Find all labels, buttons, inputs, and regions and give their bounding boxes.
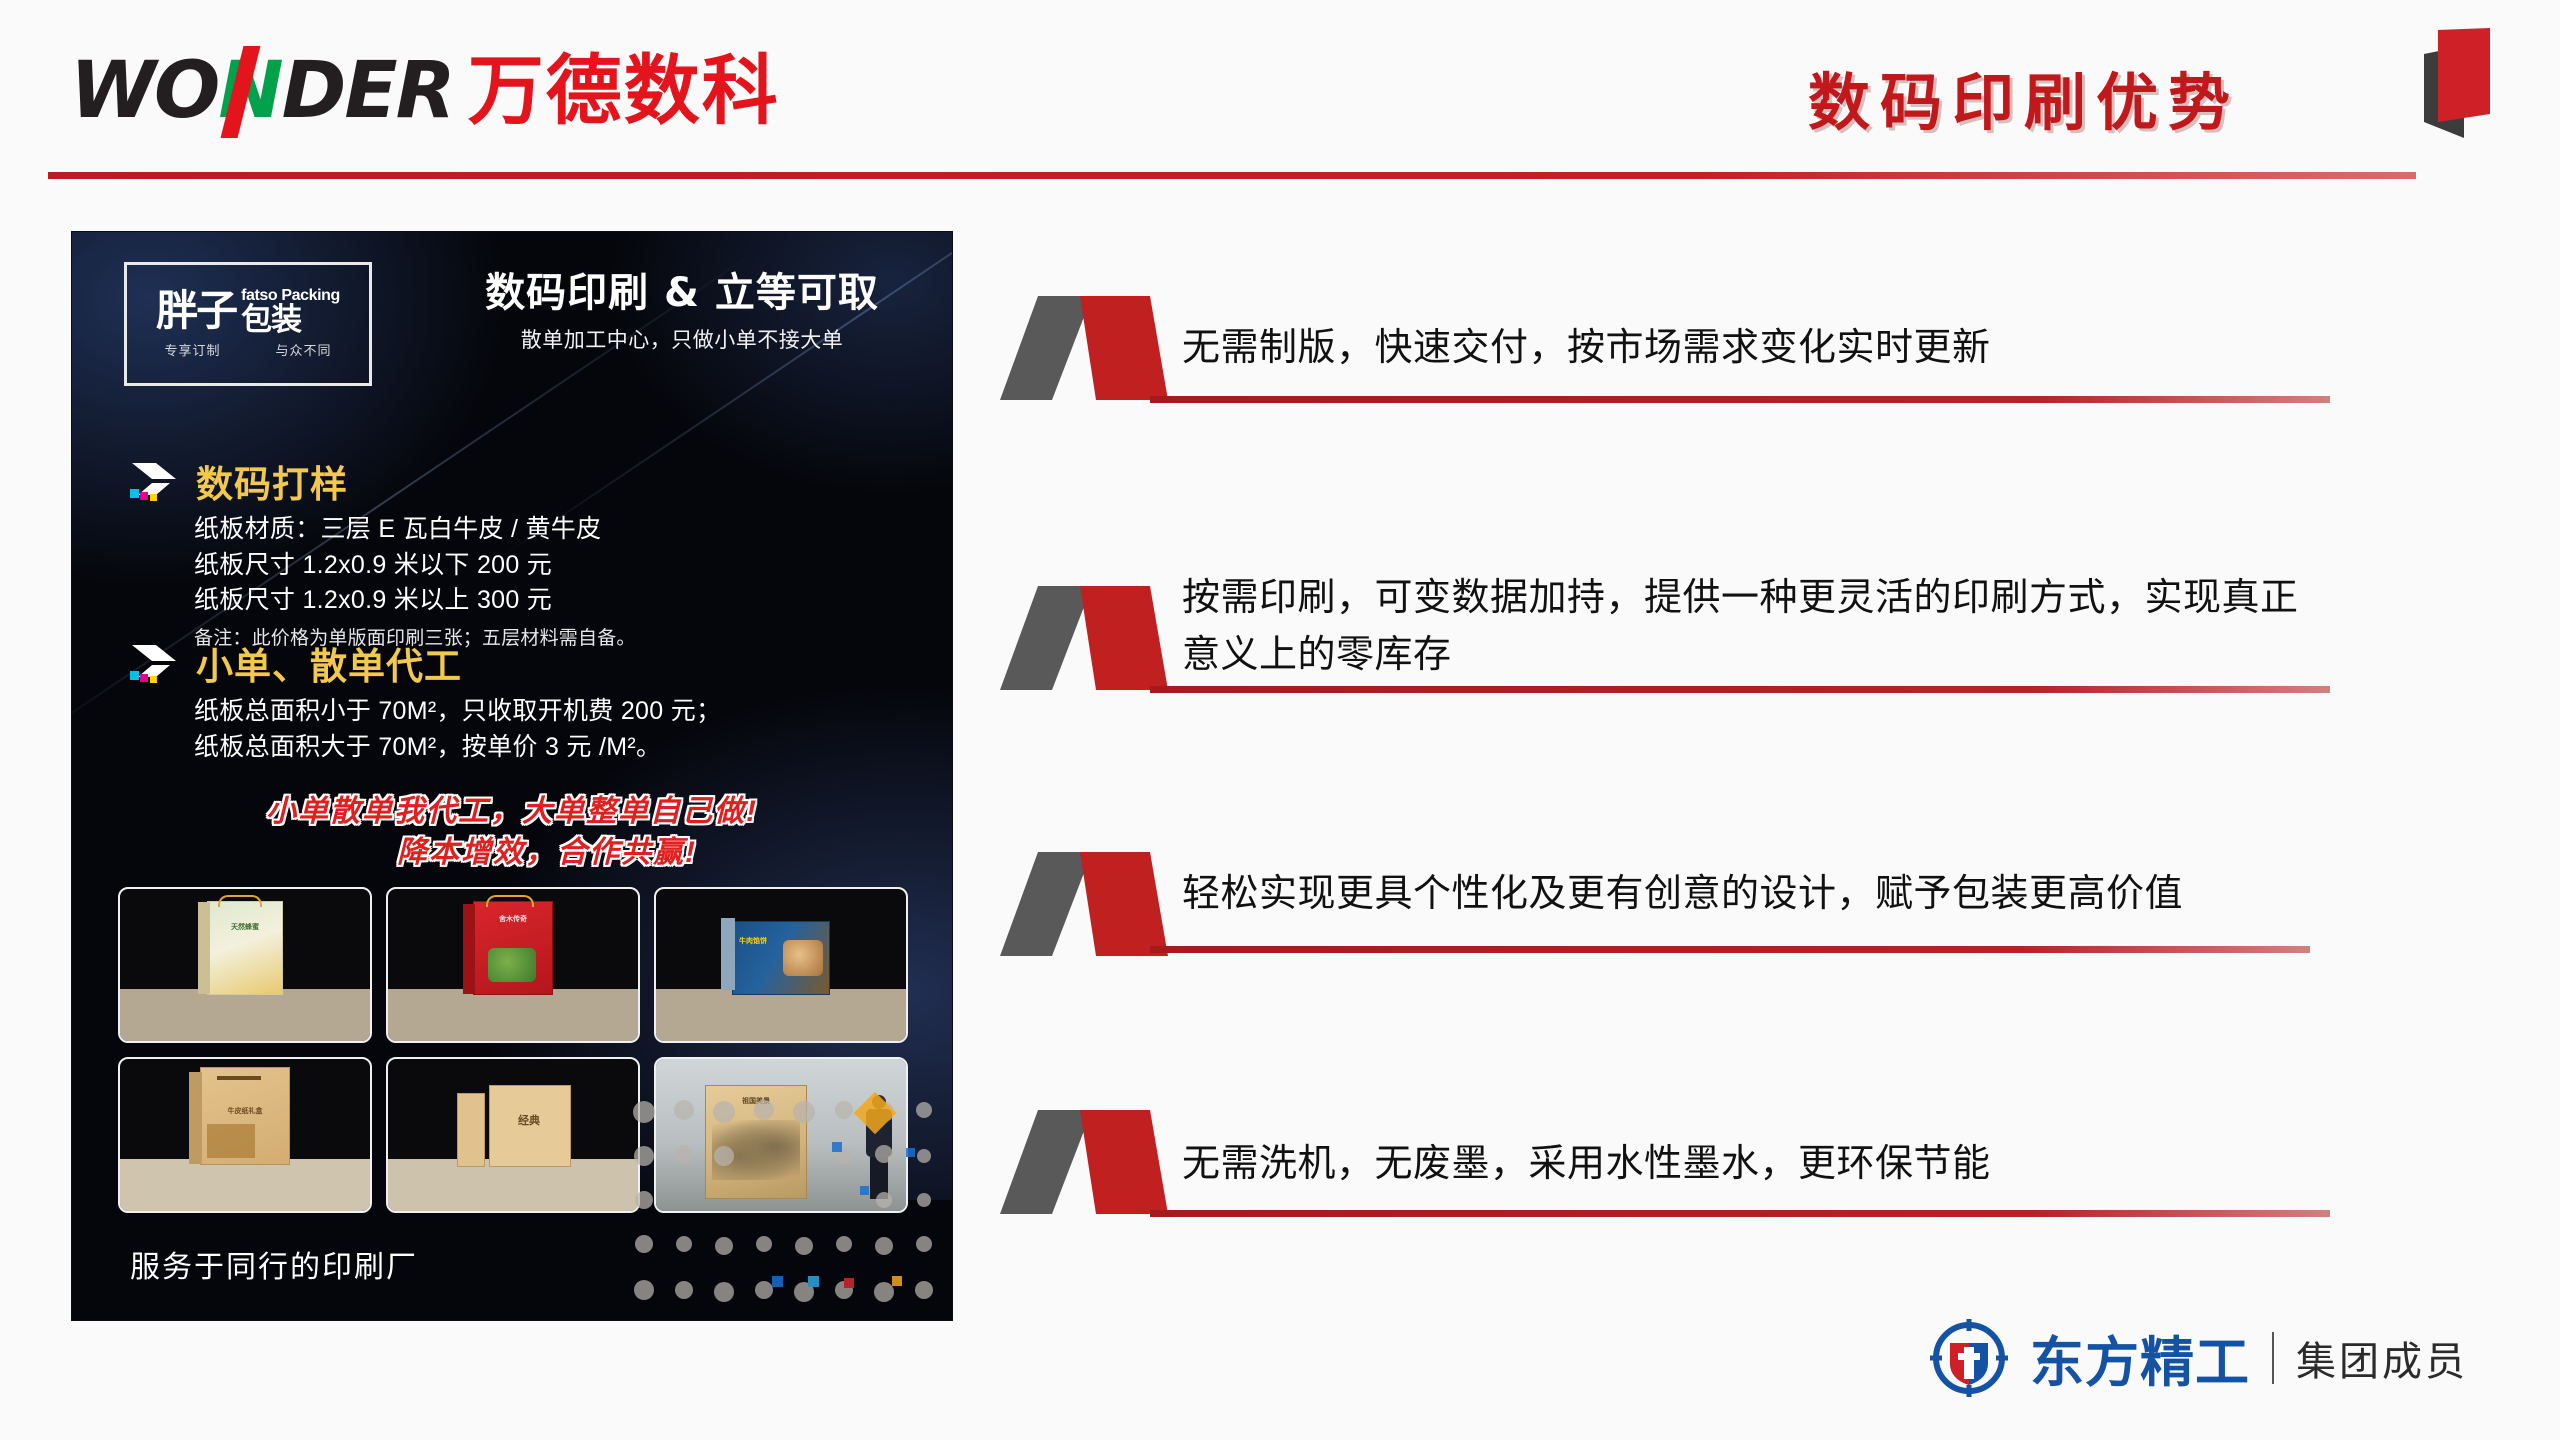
section-2-title: 小单、散单代工 [196, 636, 462, 690]
section-1-line-3: 纸板尺寸 1.2x0.9 米以上 300 元 [194, 583, 920, 619]
group-member-label: 集团成员 [2296, 1329, 2468, 1387]
beef-pie-box: 牛肉馅饼 [732, 921, 830, 995]
poster-headline-block: 数码印刷 & 立等可取 散单加工中心，只做小单不接大单 [432, 270, 932, 354]
advantage-bullet-1-underline [1150, 396, 2330, 403]
product-photo-beef-pie: 牛肉馅饼 [654, 887, 908, 1043]
poster-section-small-orders: 小单、散单代工 纸板总面积小于 70M²，只收取开机费 200 元； 纸板总面积… [130, 636, 920, 765]
chevron-arrow-icon [130, 643, 182, 683]
section-2-lines: 纸板总面积小于 70M²，只收取开机费 200 元； 纸板总面积大于 70M²，… [194, 694, 920, 765]
product-photo-honey: 天然蜂蜜 [118, 887, 372, 1043]
corner-decoration-icon [2368, 10, 2518, 160]
fatso-logo-subtitle: 专享订制 与众不同 [127, 340, 369, 359]
kraft-box-caption: 牛皮纸礼盒 [201, 1108, 289, 1116]
product-photo-classic-set: 经典 [386, 1057, 640, 1213]
double-slash-marker-icon [1000, 292, 1210, 404]
slide-header: WO N DER 万德数科 数码印刷优势 [0, 0, 2560, 190]
honey-box-caption: 天然蜂蜜 [208, 924, 282, 932]
fatso-logo-main: 胖子 fatso Packing 包装 [127, 288, 369, 335]
footer-logo-divider [2272, 1332, 2274, 1384]
page-title: 数码印刷优势 [1808, 52, 2240, 142]
poster-headline: 数码印刷 & 立等可取 [432, 270, 932, 316]
double-slash-marker-icon [1000, 582, 1210, 694]
advantage-bullet-4-underline [1150, 1210, 2330, 1217]
promo-poster-image: 胖子 fatso Packing 包装 专享订制 与众不同 数码印刷 & 立等可… [72, 232, 952, 1320]
red-gift-box: 舍木传奇 [473, 901, 553, 995]
fatso-packing-logo: 胖子 fatso Packing 包装 专享订制 与众不同 [124, 262, 372, 386]
classic-box-caption: 经典 [489, 1115, 569, 1127]
advantage-bullet-2-text: 按需印刷，可变数据加持，提供一种更灵活的印刷方式，实现真正意义上的零库存 [1182, 570, 2322, 684]
section-2-title-row: 小单、散单代工 [130, 636, 920, 690]
fatso-logo-cn: 胖子 [156, 291, 236, 331]
honey-box: 天然蜂蜜 [207, 901, 283, 995]
section-1-line-1: 纸板材质：三层 E 瓦白牛皮 / 黄牛皮 [194, 512, 920, 548]
fatso-logo-packaging: 包装 [241, 304, 301, 335]
red-gift-box-caption: 舍木传奇 [474, 916, 552, 924]
section-2-line-1: 纸板总面积小于 70M²，只收取开机费 200 元； [194, 694, 920, 730]
wonder-brand-logo: WO N DER 万德数科 [70, 52, 780, 130]
double-slash-marker-icon [1000, 1106, 1210, 1218]
brand-latin-n-green: N [218, 52, 281, 130]
dongfang-jinggong-logo: 东方精工 集团成员 [1930, 1318, 2468, 1397]
poster-footer-text: 服务于同行的印刷厂 [130, 1242, 418, 1286]
section-1-title-row: 数码打样 [130, 454, 920, 508]
halftone-dots-decoration [622, 1090, 952, 1320]
poster-slogan-line-2: 降本增效，合作共赢! [132, 833, 892, 874]
beef-pie-box-caption: 牛肉馅饼 [739, 938, 767, 946]
fatso-logo-right: fatso Packing 包装 [241, 288, 340, 335]
poster-section-digital-proofing: 数码打样 纸板材质：三层 E 瓦白牛皮 / 黄牛皮 纸板尺寸 1.2x0.9 米… [130, 454, 920, 650]
chevron-arrow-icon [130, 461, 182, 501]
poster-slogan: 小单散单我代工，大单整单自己做! 降本增效，合作共赢! [132, 792, 892, 873]
double-slash-marker-icon [1000, 848, 1210, 960]
advantage-bullet-2-underline [1150, 686, 2330, 693]
kraft-box: 牛皮纸礼盒 [200, 1067, 290, 1165]
classic-box-set: 经典 [457, 1085, 569, 1165]
advantage-bullet-4-text: 无需洗机，无废墨，采用水性墨水，更环保节能 [1182, 1136, 2322, 1193]
brand-latin-part2: DER [282, 52, 454, 130]
header-divider [48, 172, 2416, 179]
fatso-logo-sub-left: 专享订制 [164, 340, 220, 359]
brand-chinese-name: 万德数科 [468, 53, 780, 129]
photo-floor [656, 989, 906, 1041]
product-photo-kraft-box: 牛皮纸礼盒 [118, 1057, 372, 1213]
section-1-lines: 纸板材质：三层 E 瓦白牛皮 / 黄牛皮 纸板尺寸 1.2x0.9 米以下 20… [194, 512, 920, 650]
brand-latin-part1: WO [70, 52, 218, 130]
section-1-line-2: 纸板尺寸 1.2x0.9 米以下 200 元 [194, 548, 920, 584]
poster-slogan-line-1: 小单散单我代工，大单整单自己做! [132, 792, 892, 833]
advantage-bullet-1-text: 无需制版，快速交付，按市场需求变化实时更新 [1182, 320, 2322, 377]
fatso-logo-sub-right: 与众不同 [275, 340, 331, 359]
section-2-line-2: 纸板总面积大于 70M²，按单价 3 元 /M²。 [194, 730, 920, 766]
photo-floor [120, 989, 370, 1041]
product-photo-red-gift: 舍木传奇 [386, 887, 640, 1043]
dongfang-company-name: 东方精工 [2030, 1318, 2250, 1397]
photo-floor [388, 989, 638, 1041]
advantage-bullet-3-underline [1150, 946, 2310, 953]
photo-floor [120, 1159, 370, 1211]
advantage-bullet-3-text: 轻松实现更具个性化及更有创意的设计，赋予包装更高价值 [1182, 866, 2322, 923]
poster-subheadline: 散单加工中心，只做小单不接大单 [432, 324, 932, 354]
dongfang-emblem-icon [1930, 1319, 2008, 1397]
section-1-title: 数码打样 [196, 454, 348, 508]
